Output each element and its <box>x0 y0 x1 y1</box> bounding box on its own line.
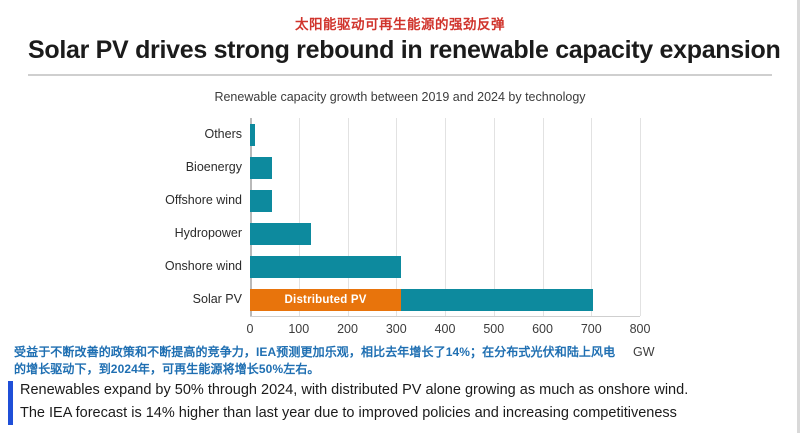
bar-chart-plot-area: 0100200300400500600700800OthersBioenergy… <box>250 118 640 316</box>
category-label-bioenergy: Bioenergy <box>32 151 242 184</box>
bar-segment[interactable] <box>250 223 311 245</box>
category-label-hydropower: Hydropower <box>32 217 242 250</box>
english-summary-line-1: Renewables expand by 50% through 2024, w… <box>20 379 785 402</box>
x-tick-label-0: 0 <box>247 322 254 336</box>
chinese-kicker-title: 太阳能驱动可再生能源的强劲反弹 <box>0 13 800 33</box>
bar-row[interactable]: Solar PVDistributed PV <box>250 283 640 316</box>
chart-title: Renewable capacity growth between 2019 a… <box>0 90 800 104</box>
gridline-800 <box>640 118 641 316</box>
x-tick-label-200: 200 <box>337 322 358 336</box>
category-label-offshore-wind: Offshore wind <box>32 184 242 217</box>
x-tick-label-100: 100 <box>288 322 309 336</box>
x-tick-label-400: 400 <box>435 322 456 336</box>
bar-row[interactable]: Onshore wind <box>250 250 640 283</box>
x-tick-label-300: 300 <box>386 322 407 336</box>
x-axis-unit-label: GW <box>633 345 655 359</box>
category-label-onshore-wind: Onshore wind <box>32 250 242 283</box>
page-title: Solar PV drives strong rebound in renewa… <box>28 36 772 65</box>
x-tick-label-500: 500 <box>483 322 504 336</box>
bar-row[interactable]: Hydropower <box>250 217 640 250</box>
english-summary-note: Renewables expand by 50% through 2024, w… <box>20 379 785 425</box>
x-axis-line <box>250 316 640 317</box>
callout-accent-bar <box>8 381 13 425</box>
category-label-solar-pv: Solar PV <box>32 283 242 316</box>
x-tick-label-700: 700 <box>581 322 602 336</box>
bar-segment[interactable] <box>250 157 272 179</box>
english-summary-line-2: The IEA forecast is 14% higher than last… <box>20 402 785 425</box>
bar-row[interactable]: Bioenergy <box>250 151 640 184</box>
bar-segment[interactable] <box>250 124 255 146</box>
chinese-summary-note: 受益于不断改善的政策和不断提高的竞争力，IEA预测更加乐观，相比去年增长了14%… <box>14 344 624 378</box>
bar-segment[interactable] <box>250 190 272 212</box>
title-divider <box>28 74 772 76</box>
category-label-others: Others <box>32 118 242 151</box>
bar-segment[interactable] <box>401 289 593 311</box>
x-tick-label-800: 800 <box>630 322 651 336</box>
bar-row[interactable]: Offshore wind <box>250 184 640 217</box>
bar-segment-label: Distributed PV <box>250 289 401 311</box>
bar-segment[interactable]: Distributed PV <box>250 289 401 311</box>
bar-row[interactable]: Others <box>250 118 640 151</box>
bar-segment[interactable] <box>250 256 401 278</box>
x-tick-label-600: 600 <box>532 322 553 336</box>
